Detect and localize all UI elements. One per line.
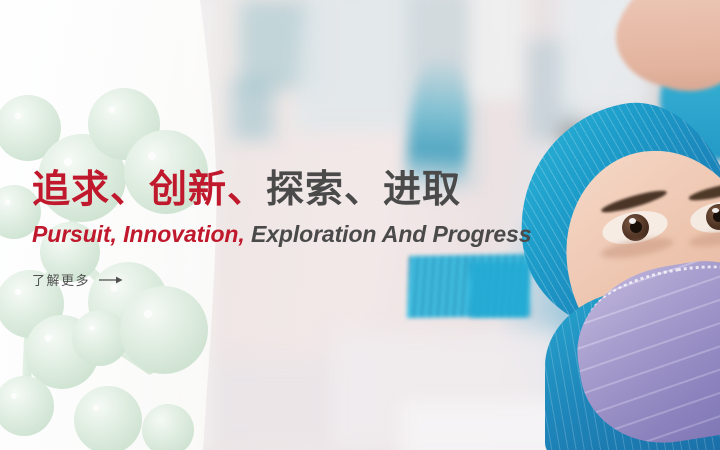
subtitle-plain: Exploration And Progress	[245, 221, 532, 247]
learn-more-link[interactable]: 了解更多	[32, 270, 123, 289]
page-title: 追求、创新、探索、进取	[32, 170, 672, 211]
headline-separator: 、	[227, 169, 266, 211]
hero-content: 追求、创新、探索、进取 Pursuit, Innovation, Explora…	[32, 170, 672, 290]
scientist-eye-glint	[712, 208, 719, 213]
learn-more-label: 了解更多	[32, 270, 90, 289]
background-equipment-shelf	[293, 0, 426, 130]
headline-plain: 探索、进取	[266, 169, 461, 211]
subtitle-accent: Pursuit, Innovation,	[32, 221, 245, 247]
hero-banner: 追求、创新、探索、进取 Pursuit, Innovation, Explora…	[0, 0, 720, 450]
page-subtitle: Pursuit, Innovation, Exploration And Pro…	[32, 221, 672, 248]
headline-accent: 追求、创新	[32, 169, 227, 211]
arrow-right-icon	[99, 275, 123, 285]
background-equipment-shelf	[232, 80, 274, 140]
